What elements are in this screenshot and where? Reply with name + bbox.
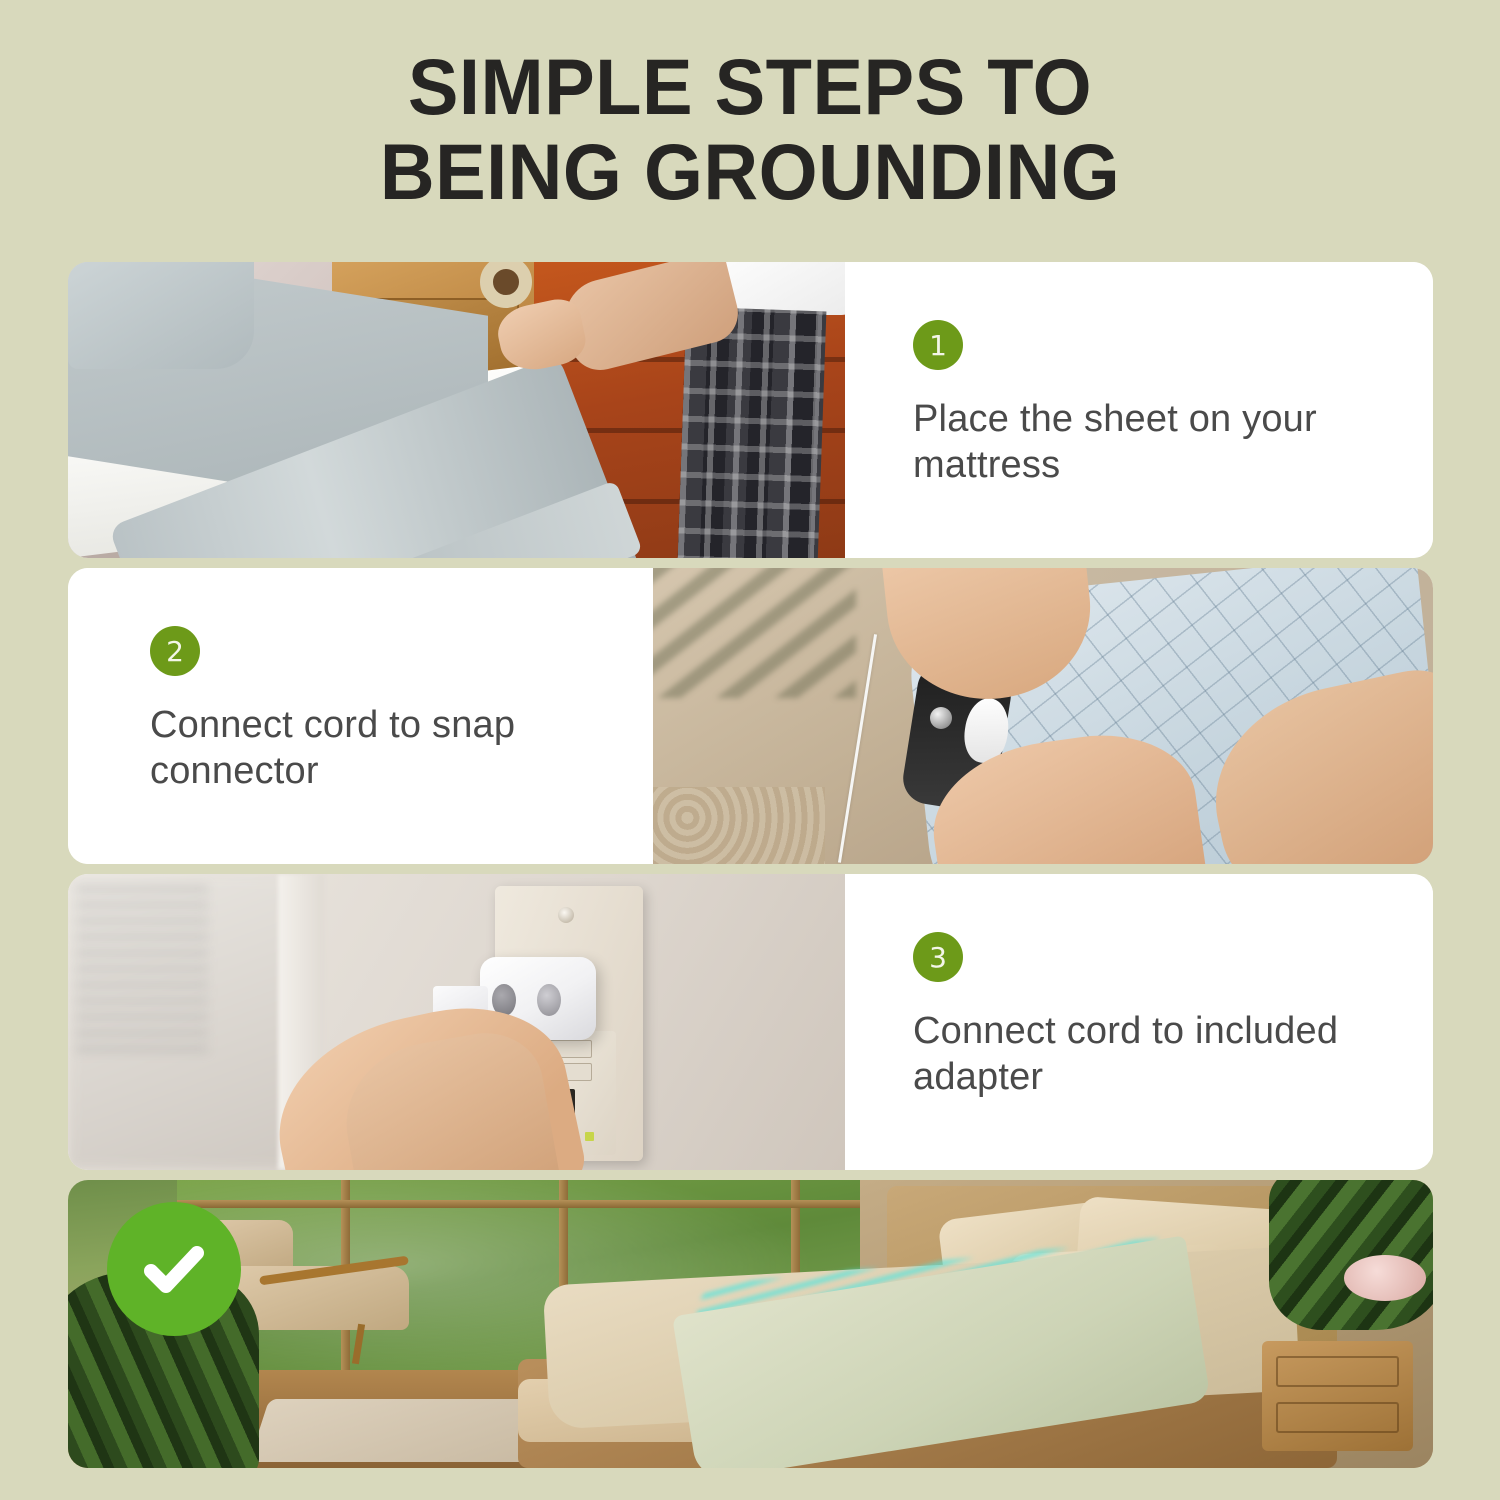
step-2-image — [653, 568, 1433, 864]
step-2-label: Connect cord to snap connector — [150, 702, 613, 794]
check-icon — [132, 1227, 216, 1311]
check-badge — [107, 1202, 241, 1336]
window-blinds — [76, 886, 208, 1052]
step-3-image — [68, 874, 845, 1170]
step-3-label: Connect cord to included adapter — [913, 1008, 1385, 1100]
hero-image — [68, 1180, 1433, 1468]
plate-screw — [558, 907, 574, 923]
potted-plant — [1269, 1180, 1433, 1330]
step-1-text-pane: 1 Place the sheet on your mattress — [845, 262, 1433, 558]
title-line-2: BEING GROUNDING — [30, 129, 1470, 214]
window-mullion-horizontal — [177, 1200, 887, 1208]
step-row-3: 3 Connect cord to included adapter — [68, 874, 1433, 1170]
metal-snap-stud — [930, 707, 952, 729]
step-3-text-pane: 3 Connect cord to included adapter — [845, 874, 1433, 1170]
step-row-1: 1 Place the sheet on your mattress — [68, 262, 1433, 558]
step-1-image — [68, 262, 845, 558]
nightstand-drawer — [1276, 1402, 1399, 1434]
step-row-2: 2 Connect cord to snap connector — [68, 568, 1433, 864]
step-1-label: Place the sheet on your mattress — [913, 396, 1385, 488]
nightstand-drawer — [1276, 1356, 1399, 1388]
leaf-shadow — [653, 568, 856, 698]
steps-list: 1 Place the sheet on your mattress 2 Con… — [68, 262, 1433, 1468]
step-badge-2: 2 — [150, 626, 200, 676]
step-badge-3: 3 — [913, 932, 963, 982]
woven-texture — [653, 787, 825, 864]
adapter-port — [537, 984, 561, 1017]
pillow — [68, 262, 254, 369]
flower-arrangement — [1344, 1255, 1426, 1301]
page-title: SIMPLE STEPS TO BEING GROUNDING — [0, 0, 1500, 214]
gfci-indicator-led — [585, 1132, 594, 1141]
step-2-text-pane: 2 Connect cord to snap connector — [68, 568, 653, 864]
step-badge-1: 1 — [913, 320, 963, 370]
title-line-1: SIMPLE STEPS TO — [30, 44, 1470, 129]
